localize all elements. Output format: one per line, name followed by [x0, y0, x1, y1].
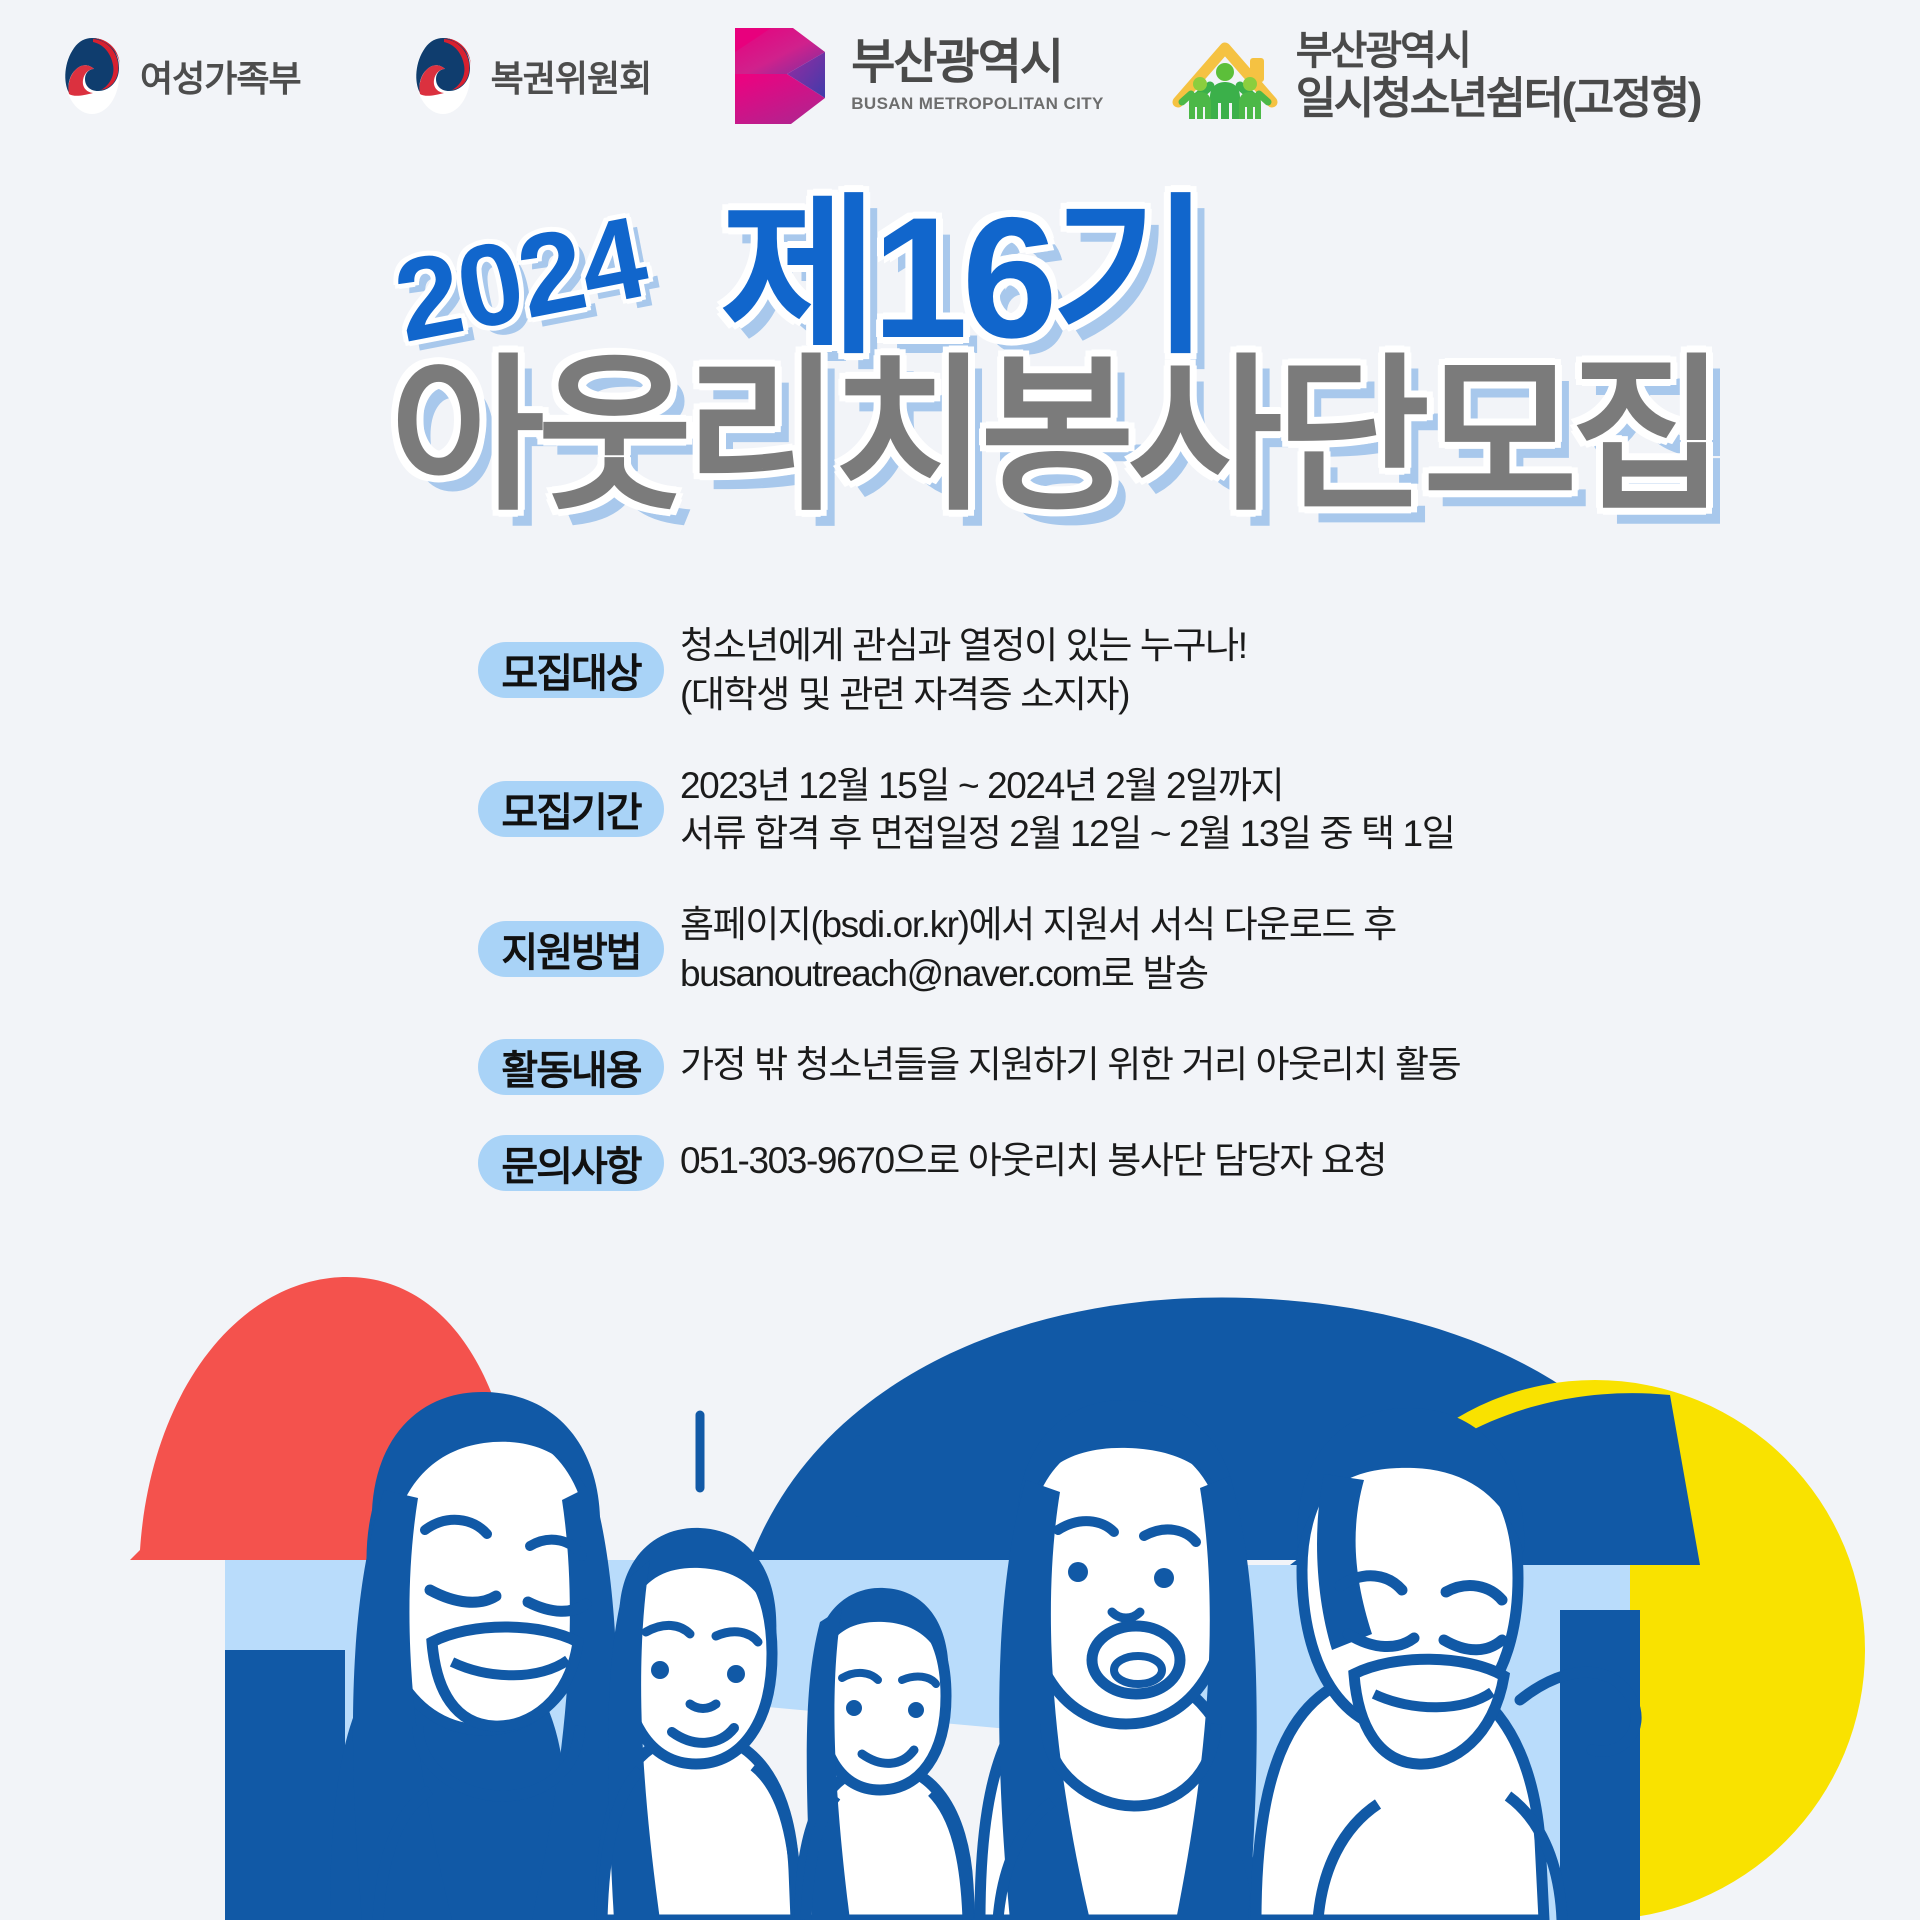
info-label-badge: 활동내용 [478, 1039, 664, 1095]
illustration-svg [0, 1230, 1920, 1920]
korea-government-taeguk-icon [411, 34, 475, 118]
logo-ministry-gender-equality: 여성가족부 [60, 34, 301, 118]
busan-logo-label-ko: 부산광역시 [851, 39, 1104, 87]
info-row-how-to-apply: 지원방법 홈페이지(bsdi.or.kr)에서 지원서 서식 다운로드 후 bu… [0, 899, 1920, 999]
logo-busan-youth-shelter: 부산광역시 일시청소년쉼터(고정형) [1166, 28, 1700, 124]
page-title: 2024 제16기 아웃리치봉사단모집 [0, 170, 1920, 580]
logo-busan-metropolitan-city: 부산광역시 BUSAN METROPOLITAN CITY [731, 26, 1104, 126]
busan-logo-label-en: BUSAN METROPOLITAN CITY [851, 94, 1104, 114]
info-text-line: (대학생 및 관련 자격증 소지자) [680, 671, 1247, 720]
info-text-line: 051-303-9670으로 아웃리치 봉사단 담당자 요청 [680, 1137, 1386, 1186]
info-label-badge: 지원방법 [478, 921, 664, 977]
info-text-line: 가정 밖 청소년들을 지원하기 위한 거리 아웃리치 활동 [680, 1041, 1460, 1090]
busan-logo-text: 부산광역시 BUSAN METROPOLITAN CITY [851, 39, 1104, 114]
logo-label: 여성가족부 [140, 50, 301, 102]
logo-lottery-commission: 복권위원회 [411, 34, 652, 118]
logo-bar: 여성가족부 복권위원회 [0, 0, 1920, 152]
shelter-logo-line2: 일시청소년쉼터(고정형) [1296, 74, 1700, 123]
info-label-badge: 모집대상 [478, 642, 664, 698]
info-row-text: 청소년에게 관심과 열정이 있는 누구나! (대학생 및 관련 자격증 소지자) [680, 620, 1247, 720]
info-text-line: 2023년 12월 15일 ~ 2024년 2월 2일까지 [680, 762, 1454, 811]
info-label-badge: 모집기간 [478, 781, 664, 837]
info-list: 모집대상 청소년에게 관심과 열정이 있는 누구나! (대학생 및 관련 자격증… [0, 620, 1920, 1231]
title-line-1: 제16기 [720, 192, 1204, 364]
info-row-target: 모집대상 청소년에게 관심과 열정이 있는 누구나! (대학생 및 관련 자격증… [0, 620, 1920, 720]
youth-volunteers-illustration [0, 1230, 1920, 1920]
korea-government-taeguk-icon [60, 34, 124, 118]
info-row-contact: 문의사항 051-303-9670으로 아웃리치 봉사단 담당자 요청 [0, 1135, 1920, 1191]
info-text-line: 청소년에게 관심과 열정이 있는 누구나! [680, 622, 1247, 671]
poster-canvas: 여성가족부 복권위원회 [0, 0, 1920, 1920]
illus-figure-2 [600, 1528, 798, 1920]
info-row-text: 홈페이지(bsdi.or.kr)에서 지원서 서식 다운로드 후 busanou… [680, 899, 1396, 999]
busan-b-mark-icon [731, 26, 835, 126]
logo-label: 복권위원회 [491, 50, 652, 102]
info-row-text: 2023년 12월 15일 ~ 2024년 2월 2일까지 서류 합격 후 면접… [680, 760, 1454, 860]
info-row-activity: 활동내용 가정 밖 청소년들을 지원하기 위한 거리 아웃리치 활동 [0, 1039, 1920, 1095]
house-with-people-icon [1166, 28, 1284, 124]
info-row-text: 051-303-9670으로 아웃리치 봉사단 담당자 요청 [680, 1135, 1386, 1186]
info-row-period: 모집기간 2023년 12월 15일 ~ 2024년 2월 2일까지 서류 합격… [0, 760, 1920, 860]
info-row-text: 가정 밖 청소년들을 지원하기 위한 거리 아웃리치 활동 [680, 1039, 1460, 1090]
shelter-logo-line1: 부산광역시 [1296, 29, 1700, 74]
shelter-logo-text: 부산광역시 일시청소년쉼터(고정형) [1296, 29, 1700, 123]
info-text-line: 홈페이지(bsdi.or.kr)에서 지원서 서식 다운로드 후 [680, 901, 1396, 950]
info-label-badge: 문의사항 [478, 1135, 664, 1191]
title-line-2: 아웃리치봉사단모집 [390, 352, 1718, 520]
info-text-line: 서류 합격 후 면접일정 2월 12일 ~ 2월 13일 중 택 1일 [680, 810, 1454, 859]
info-text-line: busanoutreach@naver.com로 발송 [680, 950, 1396, 999]
